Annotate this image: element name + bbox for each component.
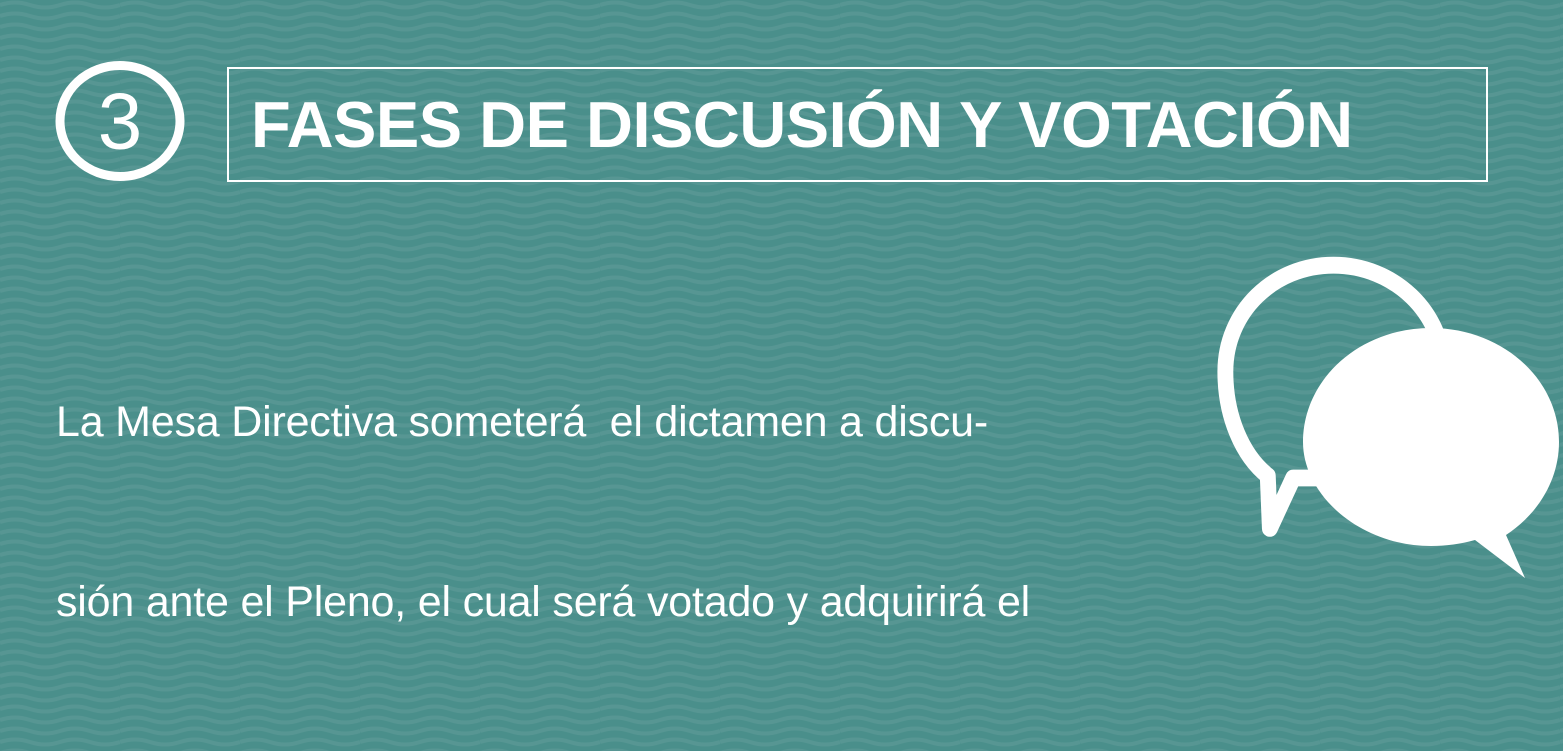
step-number-value: 3 <box>98 77 143 166</box>
speech-bubble-filled <box>1303 328 1559 578</box>
infographic-slide: 3 FASES DE DISCUSIÓN Y VOTACIÓN La Mesa … <box>0 0 1563 751</box>
body-line: La Mesa Directiva someterá el dictamen a… <box>56 392 1196 452</box>
page-title: FASES DE DISCUSIÓN Y VOTACIÓN <box>251 67 1353 182</box>
body-line: sión ante el Pleno, el cual será votado … <box>56 572 1196 632</box>
body-paragraph: La Mesa Directiva someterá el dictamen a… <box>56 272 1196 751</box>
step-number-badge: 3 <box>55 61 185 181</box>
speech-bubbles-icon <box>1205 240 1563 580</box>
